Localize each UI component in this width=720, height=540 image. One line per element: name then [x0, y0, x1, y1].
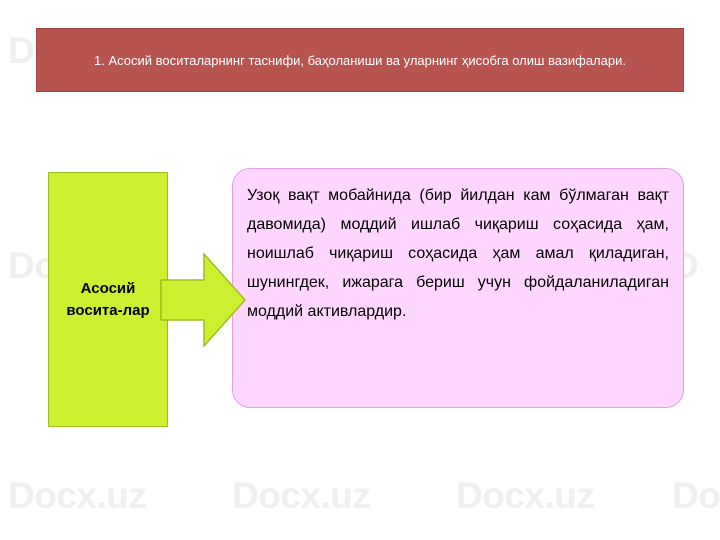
definition-box: Узоқ вақт мобайнида (бир йилдан кам бўлм… — [232, 168, 684, 408]
definition-text: Узоқ вақт мобайнида (бир йилдан кам бўлм… — [247, 181, 669, 326]
page-title: 1. Асосий воситаларнинг таснифи, баҳолан… — [60, 51, 660, 70]
term-box-label: Асосий восита-лар — [49, 278, 167, 322]
watermark-text: Docx.uz — [232, 475, 370, 517]
title-banner: 1. Асосий воситаларнинг таснифи, баҳолан… — [36, 28, 684, 92]
watermark-text: Doc — [672, 475, 720, 517]
term-box: Асосий восита-лар — [48, 172, 168, 427]
right-arrow-icon — [160, 253, 246, 347]
watermark-text: Docx.uz — [8, 475, 146, 517]
watermark-text: Docx.uz — [456, 475, 594, 517]
